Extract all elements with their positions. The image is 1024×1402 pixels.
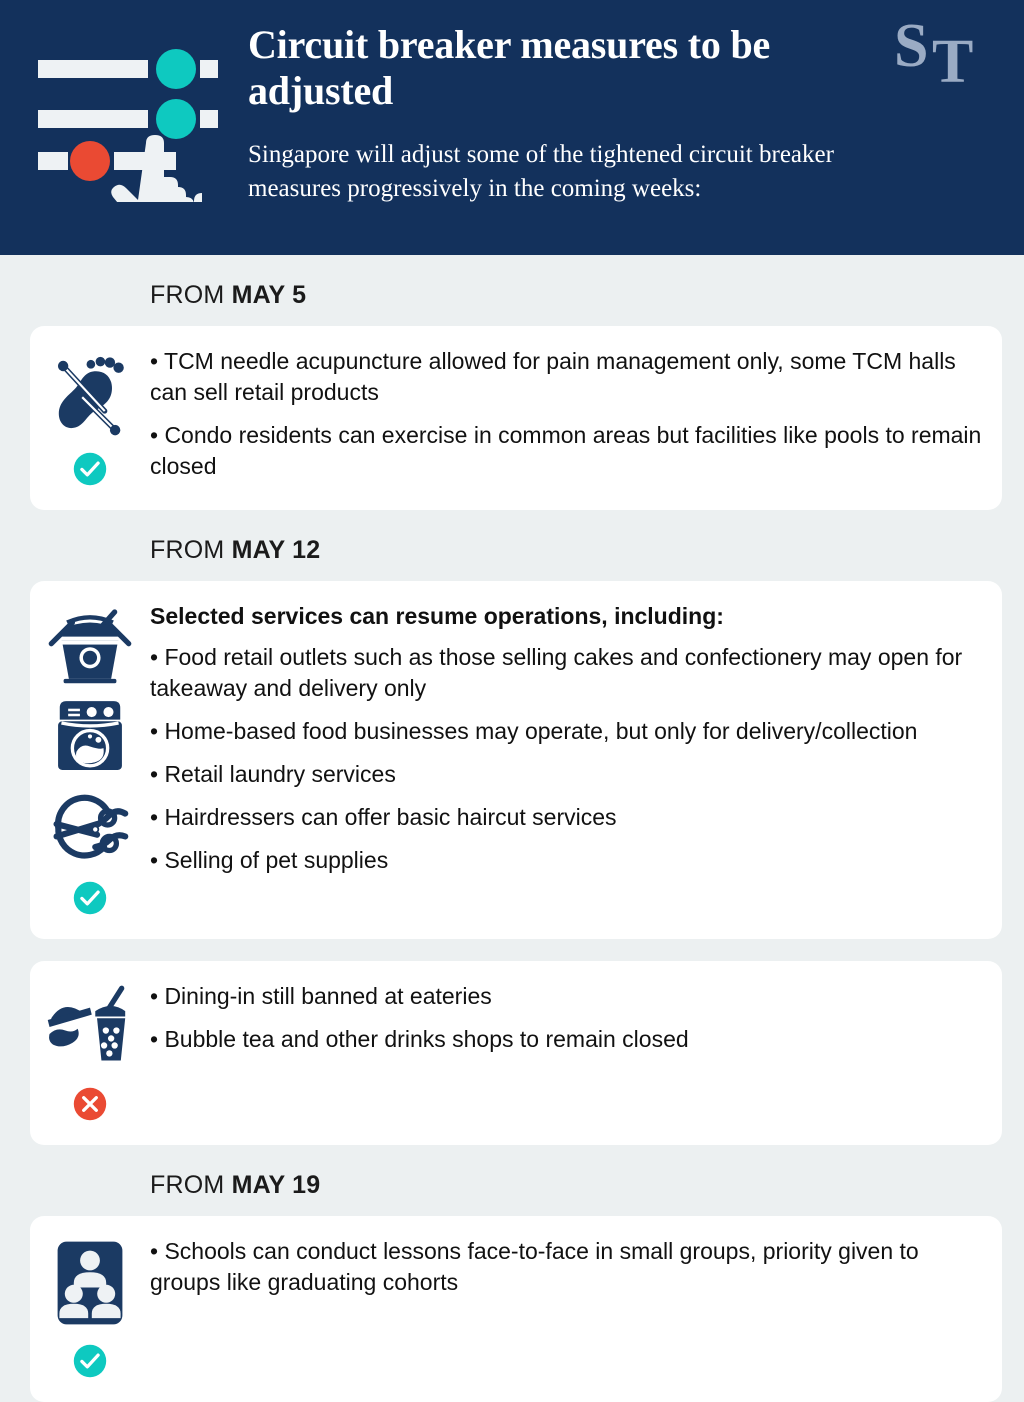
header-text-block: Circuit breaker measures to be adjusted …	[248, 22, 868, 206]
school-group-icon	[54, 1238, 126, 1333]
measure-card-may19-allowed: • Schools can conduct lessons face-to-fa…	[30, 1216, 1002, 1402]
takeaway-box-icon	[46, 603, 134, 692]
svg-text:S: S	[894, 14, 928, 80]
icon-column	[30, 344, 150, 492]
bullet-item: • Hairdressers can offer basic haircut s…	[150, 802, 984, 833]
check-badge	[72, 1343, 108, 1384]
section-label-date: MAY 19	[232, 1171, 321, 1199]
cross-badge	[72, 1086, 108, 1127]
text-column: • TCM needle acupuncture allowed for pai…	[150, 344, 984, 482]
bullet-item: • Condo residents can exercise in common…	[150, 420, 984, 482]
washing-machine-icon	[48, 696, 132, 781]
section-label-prefix: FROM	[150, 281, 224, 309]
slider-hand-icon	[28, 22, 218, 202]
measure-card-may12-banned: • Dining-in still banned at eateries • B…	[30, 961, 1002, 1145]
svg-text:T: T	[932, 28, 973, 94]
section-label-date: MAY 12	[232, 536, 321, 564]
card-lead-text: Selected services can resume operations,…	[150, 601, 984, 632]
bullet-item: • Schools can conduct lessons face-to-fa…	[150, 1236, 984, 1298]
page-subtitle: Singapore will adjust some of the tighte…	[248, 138, 868, 206]
page-title: Circuit breaker measures to be adjusted	[248, 22, 868, 114]
text-column: Selected services can resume operations,…	[150, 599, 984, 876]
check-badge	[72, 451, 108, 492]
scissors-haircut-icon	[46, 785, 134, 870]
icon-column	[30, 599, 150, 921]
section-label-date: MAY 5	[232, 281, 307, 309]
foot-acupuncture-icon	[51, 348, 129, 441]
text-column: • Dining-in still banned at eateries • B…	[150, 979, 984, 1055]
bullet-item: • Food retail outlets such as those sell…	[150, 642, 984, 704]
icon-column	[30, 1234, 150, 1384]
measure-card-may5-allowed: • TCM needle acupuncture allowed for pai…	[30, 326, 1002, 510]
straits-times-logo: S T	[892, 14, 1002, 94]
section-label-may-19: FROM MAY 19	[0, 1145, 1024, 1216]
bullet-item: • Selling of pet supplies	[150, 845, 984, 876]
bullet-item: • Dining-in still banned at eateries	[150, 981, 984, 1012]
dining-bubbletea-banned-icon	[46, 983, 134, 1076]
section-label-may-5: FROM MAY 5	[0, 255, 1024, 326]
bullet-item: • TCM needle acupuncture allowed for pai…	[150, 346, 984, 408]
header-banner: Circuit breaker measures to be adjusted …	[0, 0, 1024, 255]
infographic-page: Circuit breaker measures to be adjusted …	[0, 0, 1024, 1400]
bullet-item: • Home-based food businesses may operate…	[150, 716, 984, 747]
section-label-may-12: FROM MAY 12	[0, 510, 1024, 581]
measure-card-may12-allowed: Selected services can resume operations,…	[30, 581, 1002, 939]
section-label-prefix: FROM	[150, 1171, 224, 1199]
bullet-item: • Bubble tea and other drinks shops to r…	[150, 1024, 984, 1055]
content-body: FROM MAY 5	[0, 255, 1024, 1402]
text-column: • Schools can conduct lessons face-to-fa…	[150, 1234, 984, 1298]
section-label-prefix: FROM	[150, 536, 224, 564]
icon-column	[30, 979, 150, 1127]
check-badge	[72, 880, 108, 921]
bullet-item: • Retail laundry services	[150, 759, 984, 790]
